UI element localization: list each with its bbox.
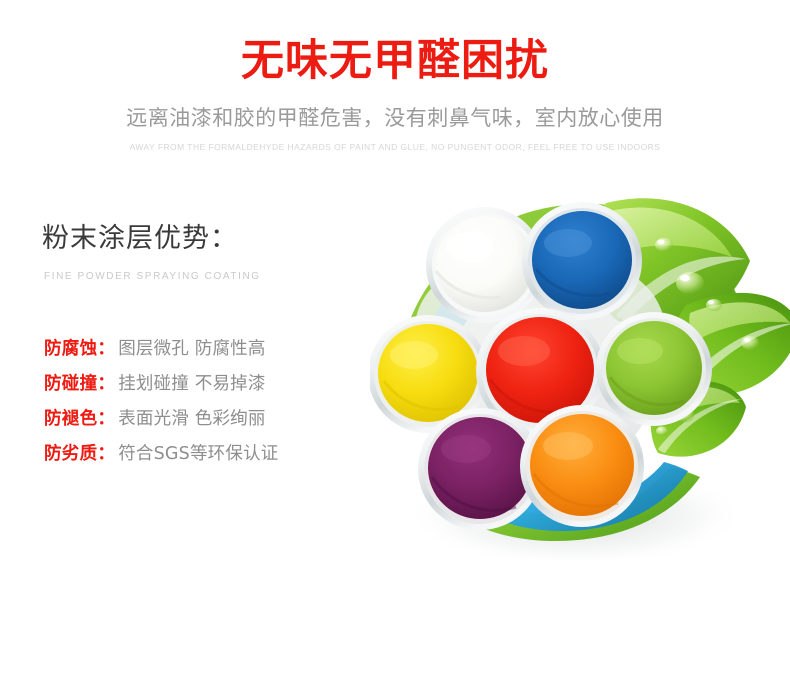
page-subtitle-english: AWAY FROM THE FORMALDEHYDE HAZARDS OF PA… [0,132,790,153]
feature-list: 防腐蚀：图层微孔 防腐性高 防碰撞：挂划碰撞 不易掉漆 防褪色：表面光滑 色彩绚… [44,332,374,472]
section-heading-english: FINE POWDER SPRAYING COATING [42,256,372,284]
feature-label: 防碰撞： [44,374,115,394]
green-powder-jar [596,312,712,426]
list-item: 防褪色：表面光滑 色彩绚丽 [44,402,374,437]
feature-description: 符合SGS等环保认证 [115,444,278,464]
feature-label: 防腐蚀： [44,339,115,359]
blue-powder-jar [522,202,642,320]
feature-label: 防褪色： [44,409,115,429]
product-detail-page: 无味无甲醛困扰 远离油漆和胶的甲醛危害，没有刺鼻气味，室内放心使用 AWAY F… [0,0,790,673]
page-subtitle: 远离油漆和胶的甲醛危害，没有刺鼻气味，室内放心使用 [0,86,790,132]
feature-description: 挂划碰撞 不易掉漆 [115,374,265,394]
section-heading: 粉末涂层优势： [42,222,372,256]
feature-label: 防劣质： [44,444,115,464]
feature-description: 图层微孔 防腐性高 [115,339,265,359]
advantages-section: 粉末涂层优势： FINE POWDER SPRAYING COATING 防腐蚀… [42,222,372,284]
list-item: 防腐蚀：图层微孔 防腐性高 [44,332,374,367]
page-title: 无味无甲醛困扰 [0,0,790,86]
product-photo-powder-jars [370,185,790,560]
orange-powder-jar [520,405,644,527]
header-block: 无味无甲醛困扰 远离油漆和胶的甲醛危害，没有刺鼻气味，室内放心使用 AWAY F… [0,0,790,153]
list-item: 防劣质：符合SGS等环保认证 [44,437,374,472]
list-item: 防碰撞：挂划碰撞 不易掉漆 [44,367,374,402]
feature-description: 表面光滑 色彩绚丽 [115,409,265,429]
